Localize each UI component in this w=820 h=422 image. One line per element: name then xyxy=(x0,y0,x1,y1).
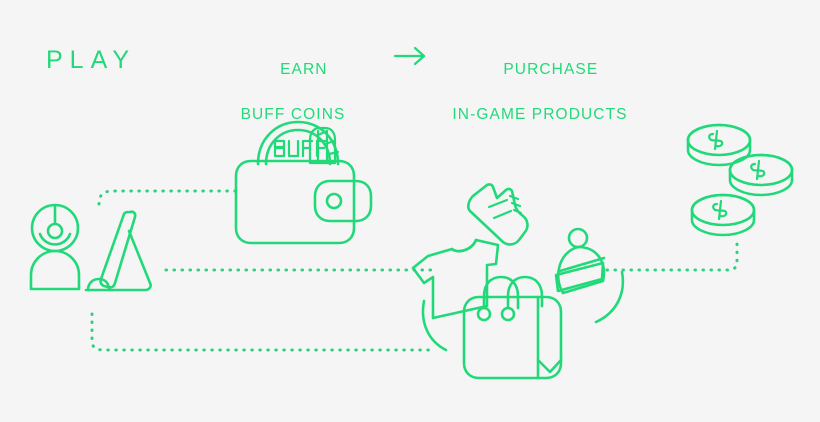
computer-mouse-icon xyxy=(86,279,112,290)
dollar-coins-icon xyxy=(688,125,792,235)
diagram-artwork: .ln { fill:none; stroke:#22d97a; stroke-… xyxy=(0,0,820,422)
infographic-canvas: PLAY EARN BUFF COINS PURCHASE IN-GAME PR… xyxy=(0,0,820,422)
gamer-with-headset-icon xyxy=(31,205,79,289)
coin-lower-left xyxy=(692,195,754,235)
sneaker-icon xyxy=(468,184,527,244)
monitor-on-stand-icon xyxy=(101,212,151,290)
motion-arc-left xyxy=(423,301,446,350)
wallet-with-coins-icon xyxy=(236,122,371,243)
shopping-bag-icon xyxy=(464,277,561,378)
dotted-path-play-to-wallet xyxy=(99,191,238,204)
dotted-path-products-loop xyxy=(92,314,434,350)
beanie-hat-icon xyxy=(556,229,604,293)
arrow-right-icon xyxy=(395,48,424,64)
dotted-path-products-to-coins xyxy=(607,238,737,270)
